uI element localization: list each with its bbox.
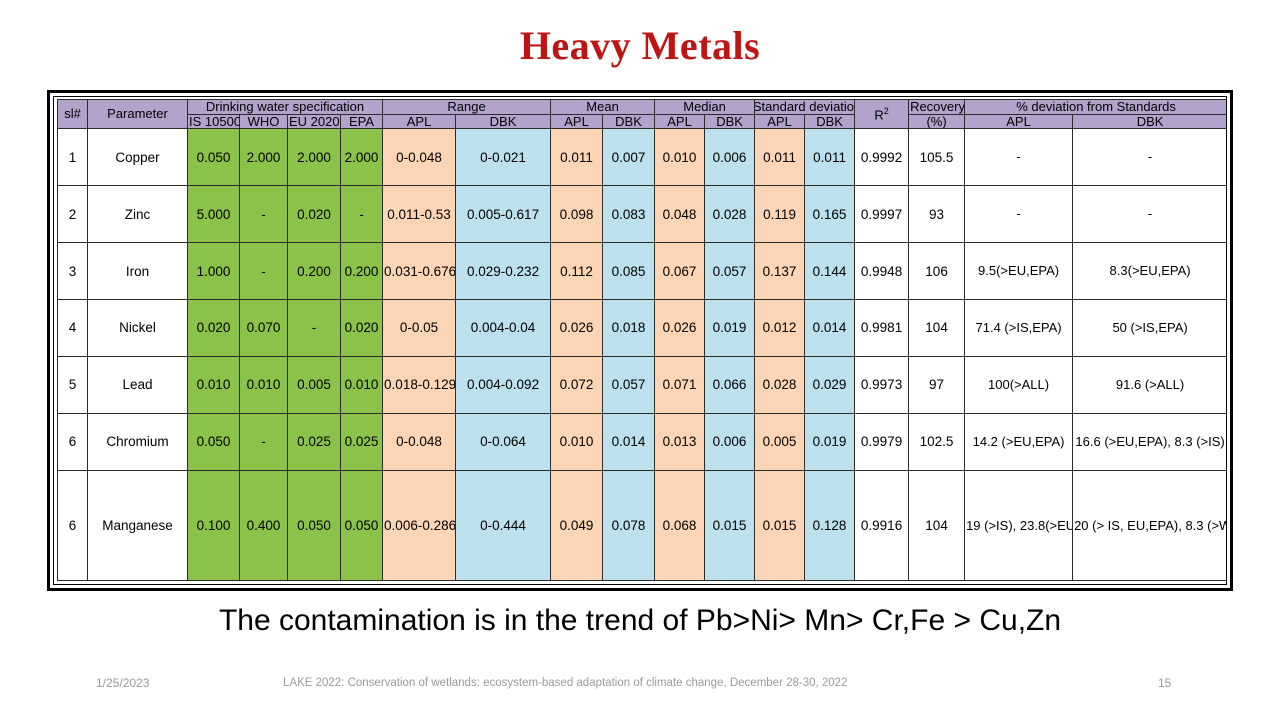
cell-r2: 0.9973 (855, 356, 909, 413)
cell-eu2020: 0.020 (288, 186, 341, 243)
cell-epa: 0.025 (341, 413, 383, 470)
cell-median-apl: 0.048 (655, 186, 705, 243)
cell-range-dbk: 0.004-0.04 (456, 299, 551, 356)
cell-dev-dbk: 16.6 (>EU,EPA), 8.3 (>IS) (1073, 413, 1227, 470)
cell-mean-dbk: 0.014 (603, 413, 655, 470)
cell-eu2020: 2.000 (288, 129, 341, 186)
cell-epa: 0.010 (341, 356, 383, 413)
header-sl: sl# (58, 100, 88, 129)
header-r-squared: R2 (855, 100, 909, 129)
header-r-squared-base: R (874, 107, 883, 122)
header-range-apl: APL (383, 114, 456, 129)
cell-sd-dbk: 0.029 (805, 356, 855, 413)
cell-is10500: 0.010 (188, 356, 240, 413)
cell-median-apl: 0.067 (655, 243, 705, 300)
cell-parameter: Zinc (88, 186, 188, 243)
cell-range-dbk: 0-0.444 (456, 470, 551, 580)
table-row: 6Chromium0.050-0.0250.0250-0.0480-0.0640… (58, 413, 1228, 470)
heavy-metals-table-inner: sl# Parameter Drinking water specificati… (53, 96, 1227, 585)
cell-is10500: 0.050 (188, 129, 240, 186)
cell-dev-dbk: 50 (>IS,EPA) (1073, 299, 1227, 356)
cell-epa: 0.020 (341, 299, 383, 356)
cell-eu2020: 0.005 (288, 356, 341, 413)
cell-median-apl: 0.071 (655, 356, 705, 413)
cell-sd-apl: 0.028 (755, 356, 805, 413)
table-row: 2Zinc5.000-0.020-0.011-0.530.005-0.6170.… (58, 186, 1228, 243)
header-sd-dbk: DBK (805, 114, 855, 129)
cell-epa: - (341, 186, 383, 243)
cell-who: - (240, 186, 288, 243)
cell-sd-apl: 0.011 (755, 129, 805, 186)
cell-sd-dbk: 0.128 (805, 470, 855, 580)
cell-recovery: 105.5 (909, 129, 965, 186)
cell-is10500: 0.100 (188, 470, 240, 580)
cell-dev-dbk: - (1073, 129, 1227, 186)
cell-mean-dbk: 0.018 (603, 299, 655, 356)
cell-sd-dbk: 0.144 (805, 243, 855, 300)
slide-canvas: Heavy Metals sl# Parameter (0, 0, 1280, 720)
cell-parameter: Chromium (88, 413, 188, 470)
cell-mean-apl: 0.112 (551, 243, 603, 300)
cell-recovery: 104 (909, 299, 965, 356)
cell-recovery: 106 (909, 243, 965, 300)
cell-dev-apl: 9.5(>EU,EPA) (965, 243, 1073, 300)
trend-caption: The contamination is in the trend of Pb>… (0, 604, 1280, 638)
header-standard-deviation-text: Standard deviation (755, 100, 855, 114)
header-range: Range (383, 100, 551, 115)
cell-range-apl: 0-0.05 (383, 299, 456, 356)
cell-mean-apl: 0.049 (551, 470, 603, 580)
cell-range-dbk: 0-0.021 (456, 129, 551, 186)
cell-eu2020: 0.200 (288, 243, 341, 300)
cell-parameter: Copper (88, 129, 188, 186)
table-row: 5Lead0.0100.0100.0050.0100.018-0.1290.00… (58, 356, 1228, 413)
cell-r2: 0.9948 (855, 243, 909, 300)
cell-recovery: 97 (909, 356, 965, 413)
cell-recovery: 104 (909, 470, 965, 580)
cell-sl: 2 (58, 186, 88, 243)
cell-dev-apl: 19 (>IS), 23.8(>EU,EPA) (965, 470, 1073, 580)
cell-r2: 0.9916 (855, 470, 909, 580)
cell-recovery: 102.5 (909, 413, 965, 470)
cell-sd-dbk: 0.011 (805, 129, 855, 186)
header-sd-apl: APL (755, 114, 805, 129)
cell-mean-apl: 0.026 (551, 299, 603, 356)
table-row: 1Copper0.0502.0002.0002.0000-0.0480-0.02… (58, 129, 1228, 186)
cell-epa: 0.050 (341, 470, 383, 580)
cell-range-dbk: 0.005-0.617 (456, 186, 551, 243)
cell-median-dbk: 0.066 (705, 356, 755, 413)
header-is10500: IS 10500 (188, 114, 240, 129)
cell-is10500: 0.020 (188, 299, 240, 356)
cell-range-apl: 0.018-0.129 (383, 356, 456, 413)
cell-range-dbk: 0.029-0.232 (456, 243, 551, 300)
table-header: sl# Parameter Drinking water specificati… (58, 100, 1228, 129)
cell-parameter: Lead (88, 356, 188, 413)
header-row-groups: sl# Parameter Drinking water specificati… (58, 100, 1228, 115)
heavy-metals-table-frame: sl# Parameter Drinking water specificati… (47, 90, 1233, 591)
cell-sl: 6 (58, 470, 88, 580)
cell-r2: 0.9992 (855, 129, 909, 186)
table-row: 4Nickel0.0200.070-0.0200-0.050.004-0.040… (58, 299, 1228, 356)
header-parameter: Parameter (88, 100, 188, 129)
cell-epa: 2.000 (341, 129, 383, 186)
header-drinking-water-specification: Drinking water specification (188, 100, 383, 115)
cell-dev-dbk: - (1073, 186, 1227, 243)
footer-note: LAKE 2022: Conservation of wetlands: eco… (283, 677, 847, 689)
cell-sd-apl: 0.119 (755, 186, 805, 243)
table-row: 6Manganese0.1000.4000.0500.0500.006-0.28… (58, 470, 1228, 580)
cell-dev-apl: 100(>ALL) (965, 356, 1073, 413)
cell-sd-dbk: 0.014 (805, 299, 855, 356)
cell-dev-apl: 71.4 (>IS,EPA) (965, 299, 1073, 356)
cell-median-dbk: 0.006 (705, 129, 755, 186)
cell-sd-apl: 0.137 (755, 243, 805, 300)
table-row: 3Iron1.000-0.2000.2000.031-0.6760.029-0.… (58, 243, 1228, 300)
cell-mean-dbk: 0.078 (603, 470, 655, 580)
cell-median-dbk: 0.006 (705, 413, 755, 470)
page-title: Heavy Metals (0, 22, 1280, 69)
heavy-metals-table: sl# Parameter Drinking water specificati… (57, 99, 1227, 581)
cell-sl: 3 (58, 243, 88, 300)
cell-range-apl: 0.031-0.676 (383, 243, 456, 300)
header-dev-dbk: DBK (1073, 114, 1227, 129)
cell-parameter: Manganese (88, 470, 188, 580)
cell-median-apl: 0.068 (655, 470, 705, 580)
cell-range-apl: 0-0.048 (383, 413, 456, 470)
cell-dev-dbk: 91.6 (>ALL) (1073, 356, 1227, 413)
cell-mean-apl: 0.072 (551, 356, 603, 413)
header-eu2020: EU 2020 (288, 114, 341, 129)
header-standard-deviation: Standard deviation (755, 100, 855, 115)
cell-range-dbk: 0.004-0.092 (456, 356, 551, 413)
cell-median-dbk: 0.019 (705, 299, 755, 356)
cell-sl: 1 (58, 129, 88, 186)
cell-who: - (240, 413, 288, 470)
header-mean-dbk: DBK (603, 114, 655, 129)
slide-footer: 1/25/2023 LAKE 2022: Conservation of wet… (0, 676, 1280, 698)
cell-dev-dbk: 20 (> IS, EU,EPA), 8.3 (>WHO) (1073, 470, 1227, 580)
footer-page-number: 15 (1158, 676, 1171, 690)
cell-range-dbk: 0-0.064 (456, 413, 551, 470)
cell-mean-dbk: 0.007 (603, 129, 655, 186)
cell-r2: 0.9981 (855, 299, 909, 356)
cell-mean-apl: 0.011 (551, 129, 603, 186)
header-who: WHO (240, 114, 288, 129)
cell-recovery: 93 (909, 186, 965, 243)
cell-sd-apl: 0.005 (755, 413, 805, 470)
cell-dev-dbk: 8.3(>EU,EPA) (1073, 243, 1227, 300)
cell-epa: 0.200 (341, 243, 383, 300)
header-range-dbk: DBK (456, 114, 551, 129)
cell-sd-apl: 0.015 (755, 470, 805, 580)
header-row-subs: IS 10500 WHO EU 2020 EPA APL DBK APL DBK… (58, 114, 1228, 129)
cell-sl: 5 (58, 356, 88, 413)
cell-median-dbk: 0.057 (705, 243, 755, 300)
cell-median-apl: 0.010 (655, 129, 705, 186)
cell-r2: 0.9979 (855, 413, 909, 470)
cell-dev-apl: 14.2 (>EU,EPA) (965, 413, 1073, 470)
cell-mean-dbk: 0.057 (603, 356, 655, 413)
cell-who: 0.010 (240, 356, 288, 413)
cell-is10500: 0.050 (188, 413, 240, 470)
cell-sl: 4 (58, 299, 88, 356)
cell-dev-apl: - (965, 129, 1073, 186)
header-recovery: Recovery (909, 100, 965, 115)
cell-mean-dbk: 0.083 (603, 186, 655, 243)
header-epa: EPA (341, 114, 383, 129)
cell-sd-dbk: 0.019 (805, 413, 855, 470)
cell-parameter: Nickel (88, 299, 188, 356)
header-deviation-from-standards: % deviation from Standards (965, 100, 1227, 115)
header-median-dbk: DBK (705, 114, 755, 129)
header-dev-apl: APL (965, 114, 1073, 129)
cell-is10500: 5.000 (188, 186, 240, 243)
header-median: Median (655, 100, 755, 115)
cell-median-dbk: 0.015 (705, 470, 755, 580)
cell-mean-dbk: 0.085 (603, 243, 655, 300)
cell-sd-apl: 0.012 (755, 299, 805, 356)
cell-sl: 6 (58, 413, 88, 470)
footer-date: 1/25/2023 (96, 676, 149, 690)
cell-who: - (240, 243, 288, 300)
cell-mean-apl: 0.010 (551, 413, 603, 470)
cell-parameter: Iron (88, 243, 188, 300)
cell-mean-apl: 0.098 (551, 186, 603, 243)
cell-who: 2.000 (240, 129, 288, 186)
cell-who: 0.400 (240, 470, 288, 580)
cell-eu2020: - (288, 299, 341, 356)
cell-median-apl: 0.026 (655, 299, 705, 356)
cell-range-apl: 0.006-0.286 (383, 470, 456, 580)
cell-eu2020: 0.025 (288, 413, 341, 470)
cell-r2: 0.9997 (855, 186, 909, 243)
cell-median-apl: 0.013 (655, 413, 705, 470)
header-r-squared-exponent: 2 (884, 106, 889, 116)
header-mean: Mean (551, 100, 655, 115)
cell-eu2020: 0.050 (288, 470, 341, 580)
header-median-apl: APL (655, 114, 705, 129)
cell-median-dbk: 0.028 (705, 186, 755, 243)
cell-is10500: 1.000 (188, 243, 240, 300)
cell-range-apl: 0-0.048 (383, 129, 456, 186)
cell-sd-dbk: 0.165 (805, 186, 855, 243)
cell-dev-apl: - (965, 186, 1073, 243)
cell-range-apl: 0.011-0.53 (383, 186, 456, 243)
cell-who: 0.070 (240, 299, 288, 356)
header-mean-apl: APL (551, 114, 603, 129)
header-recovery-unit: (%) (909, 114, 965, 129)
table-body: 1Copper0.0502.0002.0002.0000-0.0480-0.02… (58, 129, 1228, 581)
